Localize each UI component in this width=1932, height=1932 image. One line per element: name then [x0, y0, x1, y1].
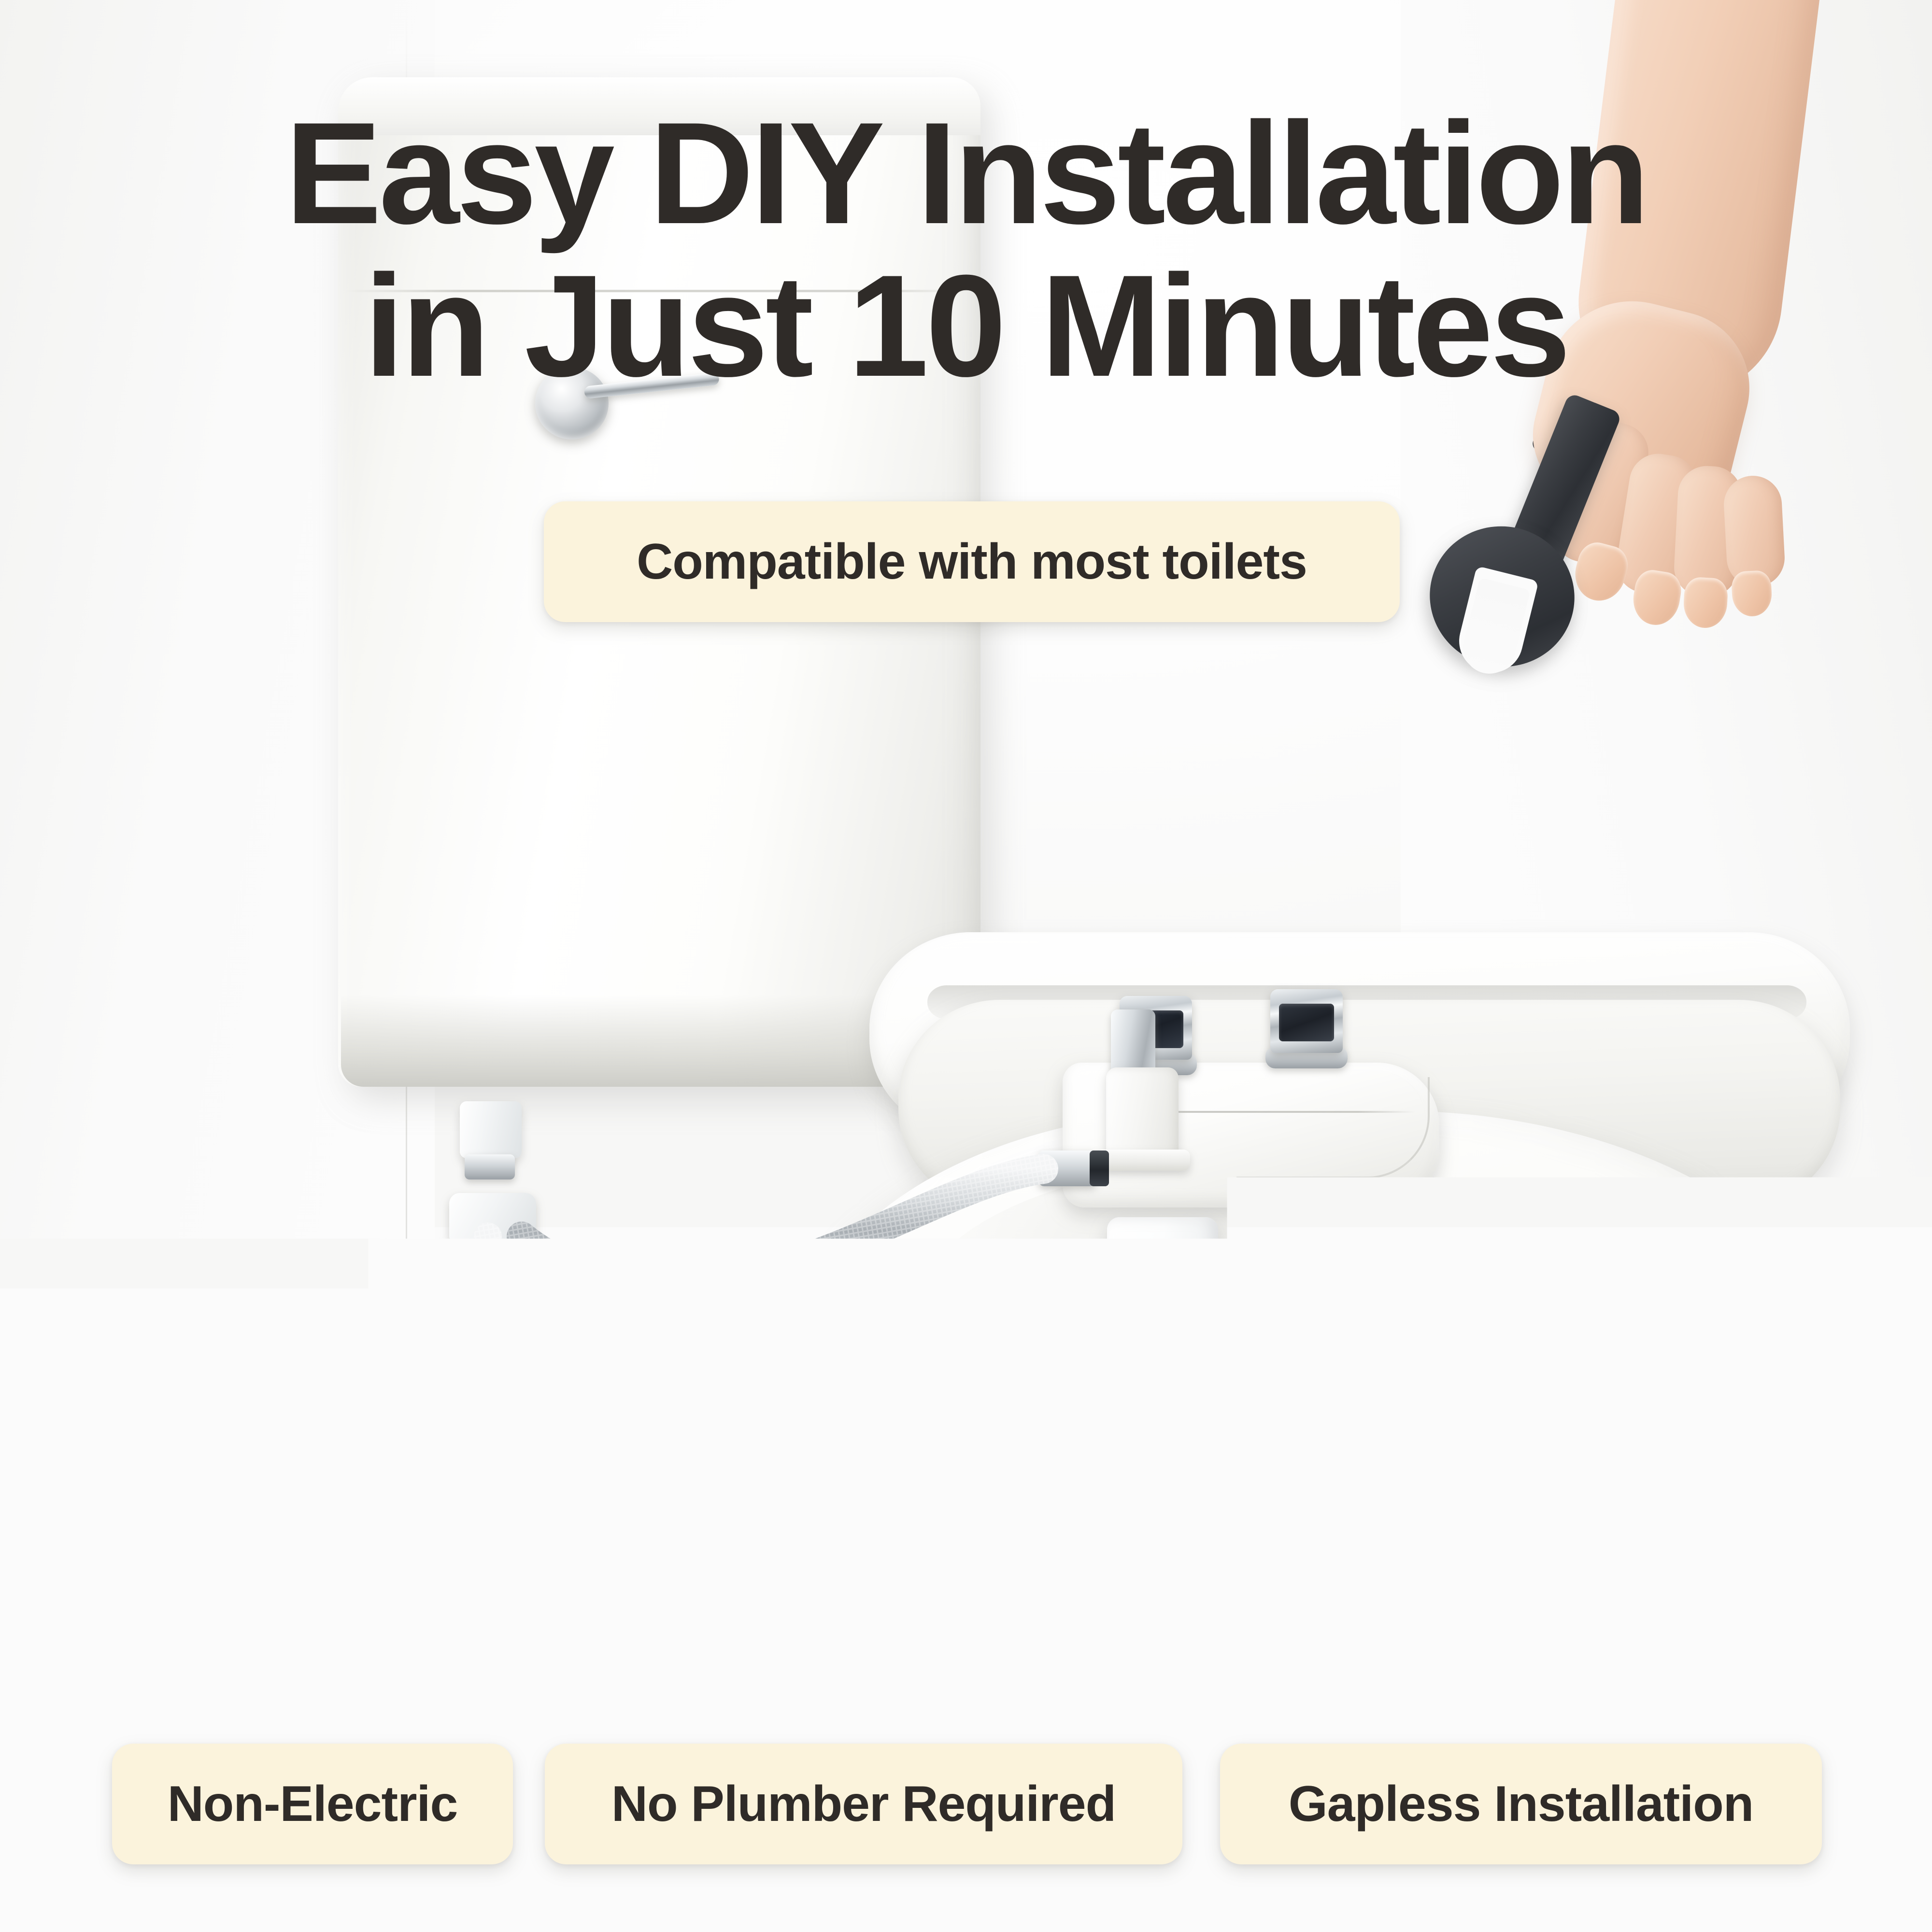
lemon-slice-icon: [1135, 1281, 1165, 1311]
bottle-brand-tagline: a touch of a scent: [1114, 1272, 1186, 1277]
marketing-hero-image: Whft a touch of a scent Lemon Peel LUXE …: [0, 0, 1932, 1932]
scent-bottle-label: Whft a touch of a scent Lemon Peel LUXE …: [1114, 1248, 1186, 1340]
leaf-icon: [1155, 1298, 1174, 1312]
badge-non-electric: Non-Electric: [112, 1744, 513, 1864]
headline-line-2: in Just 10 Minutes: [0, 253, 1932, 398]
tank-fill-valve-shank: [460, 1101, 522, 1158]
scent-sub-brand: LUXE Bidet: [1114, 1327, 1186, 1334]
scent-name: Lemon Peel: [1114, 1313, 1186, 1325]
bidet-supply-washer: [1090, 1151, 1109, 1186]
knob-face: [1279, 1004, 1334, 1041]
tee-connector: [449, 1193, 536, 1246]
bidet-inlet-collar: [1106, 1067, 1179, 1159]
bidet-body-contour: [1236, 1077, 1430, 1179]
scent-volume: 2.0 fl oz (60ml): [1114, 1335, 1186, 1340]
pressure-control-knob[interactable]: [1265, 989, 1348, 1071]
bottle-brand-name: Whft: [1114, 1248, 1186, 1270]
floor-shadow: [0, 1497, 1932, 1932]
badge-gapless-installation: Gapless Installation: [1220, 1744, 1822, 1864]
bidet-inlet-flange: [1095, 1150, 1190, 1171]
badge-compatibility: Compatible with most toilets: [544, 501, 1400, 622]
page-title: Easy DIY Installation in Just 10 Minutes: [0, 100, 1932, 398]
tank-inlet-nut: [465, 1154, 515, 1179]
badge-no-plumber-required: No Plumber Required: [545, 1744, 1182, 1864]
headline-line-1: Easy DIY Installation: [0, 100, 1932, 245]
bidet-supply-nut: [1038, 1151, 1096, 1186]
